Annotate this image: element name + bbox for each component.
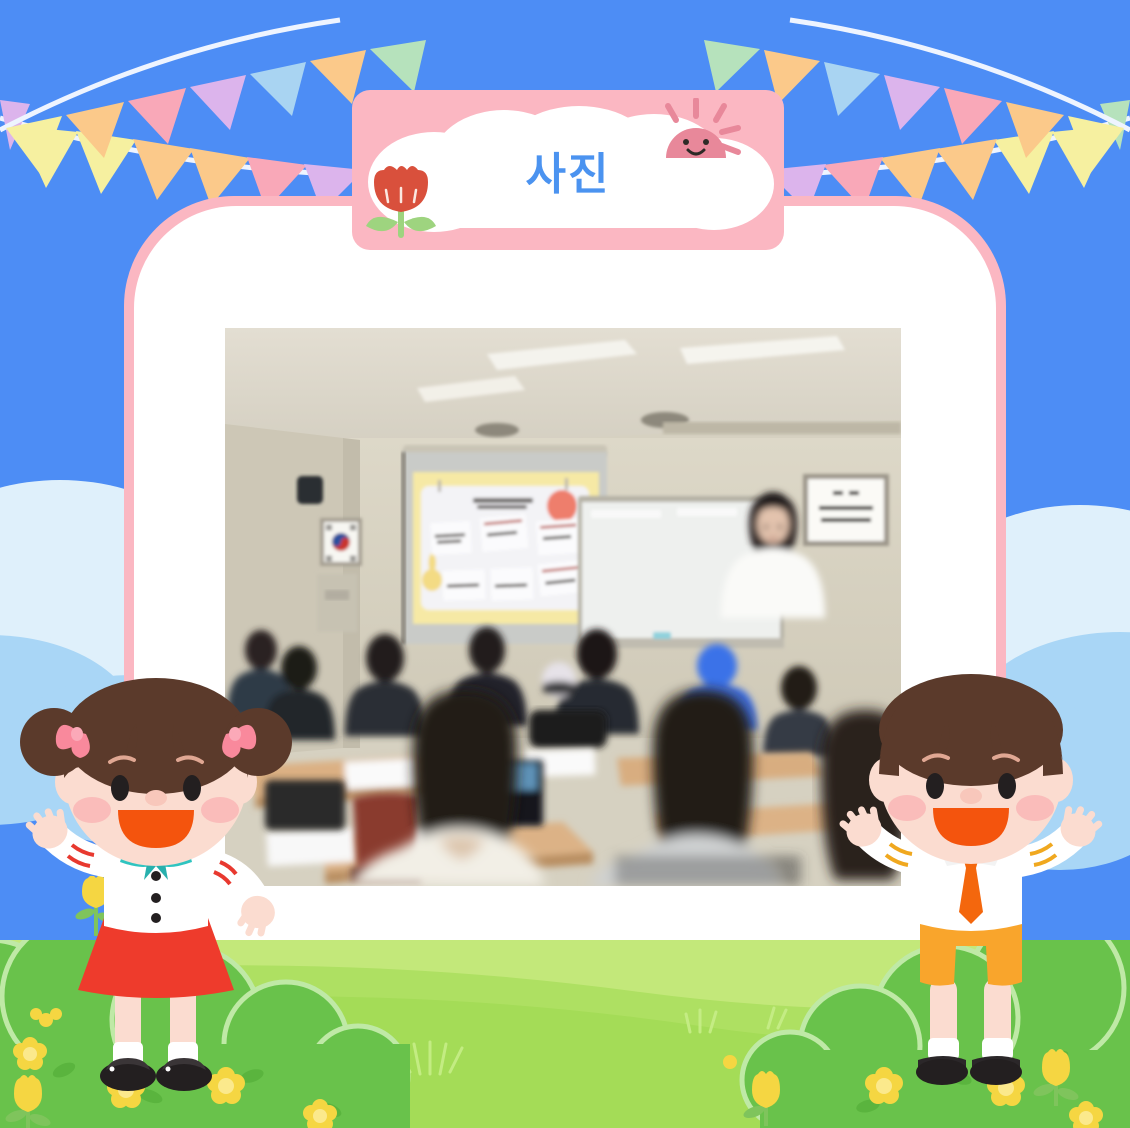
classroom-photo bbox=[225, 328, 901, 886]
waving-schoolgirl-character bbox=[8, 650, 308, 1110]
page-title: 사진 bbox=[352, 90, 784, 250]
title-banner: 사진 bbox=[352, 90, 784, 250]
waving-schoolboy-character bbox=[812, 648, 1130, 1110]
poster-canvas: 사진 bbox=[0, 0, 1130, 1128]
school-motto-sign bbox=[803, 474, 889, 546]
